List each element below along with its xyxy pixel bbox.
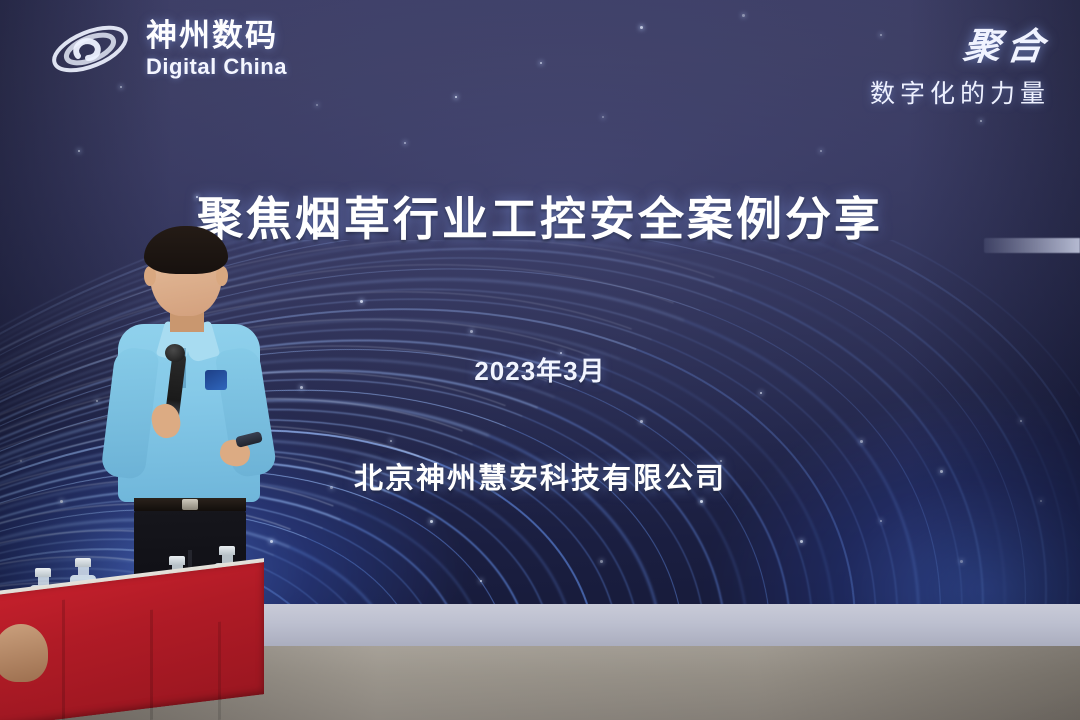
digital-china-swirl-icon: [48, 18, 132, 80]
skirt-fold: [150, 610, 153, 720]
brand-lockup: 神州数码 Digital China: [48, 18, 287, 80]
screenshot-stage: 神州数码 Digital China 聚合 数字化的力量 聚焦烟草行业工控安全案…: [0, 0, 1080, 720]
shirt-logo-icon: [205, 370, 227, 390]
skirt-fold: [218, 622, 221, 720]
skirt-fold: [62, 600, 65, 720]
speaker-hair: [144, 226, 228, 274]
brand-name-en: Digital China: [146, 56, 287, 78]
brand-name-cn: 神州数码: [146, 20, 287, 51]
event-calligraphy: 聚合: [867, 16, 1054, 70]
event-tagline: 数字化的力量: [870, 74, 1050, 110]
belt-buckle-icon: [182, 499, 198, 510]
event-lockup: 聚合 数字化的力量: [870, 16, 1050, 110]
audience-member: [0, 624, 48, 682]
